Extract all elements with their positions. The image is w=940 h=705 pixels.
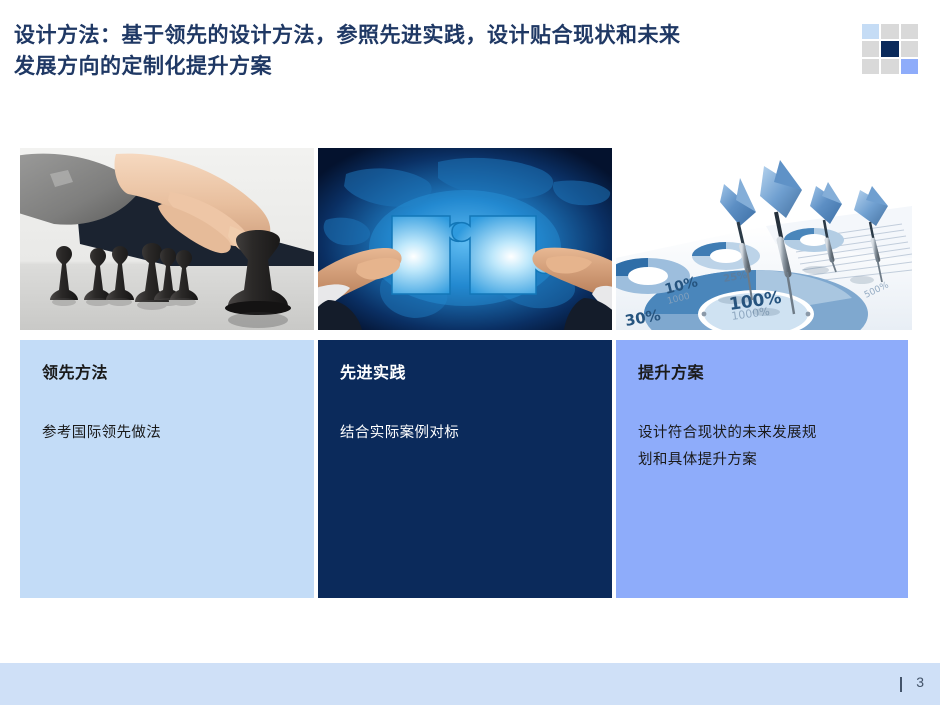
infobox-body-leading-method: 参考国际领先做法 [42,420,292,447]
footer-separator [900,677,902,692]
logo-cell-top-left [862,24,879,39]
page-number: 3 [916,674,924,690]
column-leading-method [20,148,314,330]
infobox-advanced-practice: 先进实践 结合实际案例对标 [318,340,612,598]
corporate-logo [862,24,918,74]
logo-cell-middle-center [881,41,898,56]
logo-cell-middle-right [901,41,918,56]
page-title: 设计方法：基于领先的设计方法，参照先进实践，设计贴合现状和未来 发展方向的定制化… [14,20,834,82]
infobox-heading-leading-method: 领先方法 [42,362,292,384]
infobox-heading-improvement-plan: 提升方案 [638,362,886,384]
infobox-leading-method: 领先方法 参考国际领先做法 [20,340,314,598]
logo-cell-bottom-right [901,59,918,74]
infobox-improvement-plan: 提升方案 设计符合现状的未来发展规 划和具体提升方案 [616,340,908,598]
darts-charts-photo: 100% 10% 30% 25% 1000% 1000 500% [616,148,912,330]
logo-cell-middle-left [862,41,879,56]
footer-band [0,663,940,705]
puzzle-hands-photo [318,148,612,330]
column-improvement-plan: 100% 10% 30% 25% 1000% 1000 500% [616,148,912,330]
chess-hand-photo [20,148,314,330]
infobox-heading-advanced-practice: 先进实践 [340,362,590,384]
column-advanced-practice [318,148,612,330]
infobox-body-improvement-plan: 设计符合现状的未来发展规 划和具体提升方案 [638,420,886,474]
logo-cell-top-right [901,24,918,39]
infobox-body-advanced-practice: 结合实际案例对标 [340,420,590,447]
logo-cell-bottom-center [881,59,898,74]
logo-cell-bottom-left [862,59,879,74]
logo-cell-top-center [881,24,898,39]
